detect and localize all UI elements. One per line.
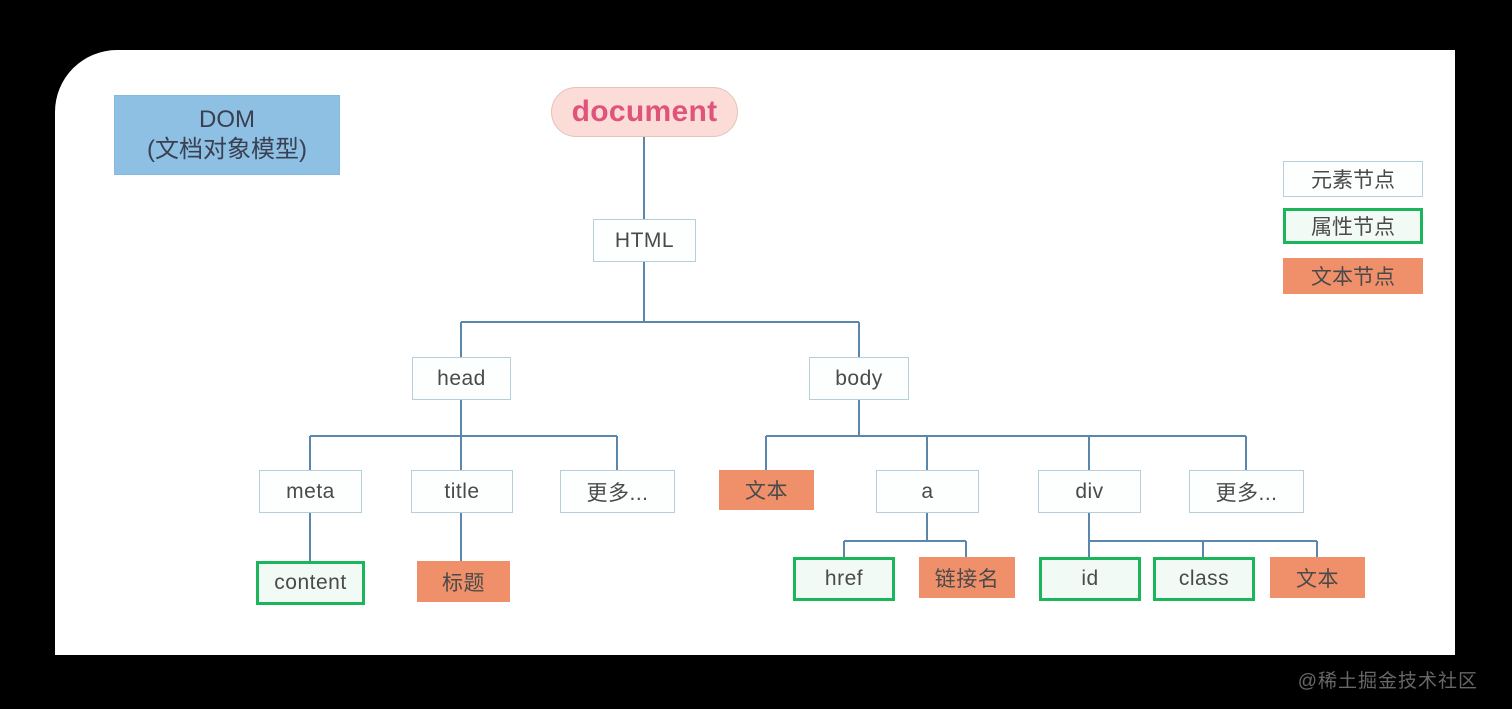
node-head-label: head (437, 367, 486, 391)
node-a[interactable]: a (876, 470, 979, 513)
node-div-text[interactable]: 文本 (1270, 557, 1365, 598)
node-title-label: title (444, 480, 479, 504)
legend-label-element: 元素节点 (1311, 164, 1395, 194)
node-head-more[interactable]: 更多... (560, 470, 675, 513)
dom-tree-diagram: DOM (文档对象模型) 元素节点 属性节点 文本节点 document HTM… (0, 0, 1512, 709)
node-href-label: href (825, 567, 863, 591)
watermark: @稀土掘金技术社区 (1298, 666, 1478, 693)
node-meta[interactable]: meta (259, 470, 362, 513)
node-body-text[interactable]: 文本 (719, 470, 814, 510)
legend-item-element: 元素节点 (1283, 161, 1423, 197)
node-body-text-label: 文本 (745, 475, 788, 505)
node-div-text-label: 文本 (1296, 563, 1339, 593)
node-href[interactable]: href (793, 557, 895, 601)
legend-item-text: 文本节点 (1283, 258, 1423, 294)
node-class-label: class (1179, 567, 1229, 591)
node-id[interactable]: id (1039, 557, 1141, 601)
legend-item-attribute: 属性节点 (1283, 208, 1423, 244)
node-document-label: document (572, 95, 718, 129)
node-div-label: div (1075, 480, 1103, 504)
node-id-label: id (1081, 567, 1098, 591)
node-body-more-label: 更多... (1215, 477, 1277, 507)
node-biaoti-label: 标题 (442, 567, 485, 597)
dom-caption-line2: (文档对象模型) (147, 135, 307, 165)
legend-label-text: 文本节点 (1311, 261, 1395, 291)
node-linkname[interactable]: 链接名 (919, 557, 1015, 598)
node-meta-label: meta (286, 480, 335, 504)
node-head[interactable]: head (412, 357, 511, 400)
node-biaoti[interactable]: 标题 (417, 561, 510, 602)
node-head-more-label: 更多... (586, 477, 648, 507)
node-body-label: body (835, 367, 883, 391)
node-content-label: content (274, 571, 346, 595)
node-div[interactable]: div (1038, 470, 1141, 513)
legend-label-attribute: 属性节点 (1311, 211, 1395, 241)
node-html-label: HTML (615, 229, 674, 253)
node-document[interactable]: document (551, 87, 738, 137)
node-linkname-label: 链接名 (935, 563, 1000, 593)
dom-caption-box: DOM (文档对象模型) (114, 95, 340, 175)
dom-caption-line1: DOM (199, 105, 255, 135)
node-a-label: a (921, 480, 933, 504)
node-html[interactable]: HTML (593, 219, 696, 262)
node-body[interactable]: body (809, 357, 909, 400)
node-content[interactable]: content (256, 561, 365, 605)
node-title[interactable]: title (411, 470, 513, 513)
node-body-more[interactable]: 更多... (1189, 470, 1304, 513)
node-class[interactable]: class (1153, 557, 1255, 601)
